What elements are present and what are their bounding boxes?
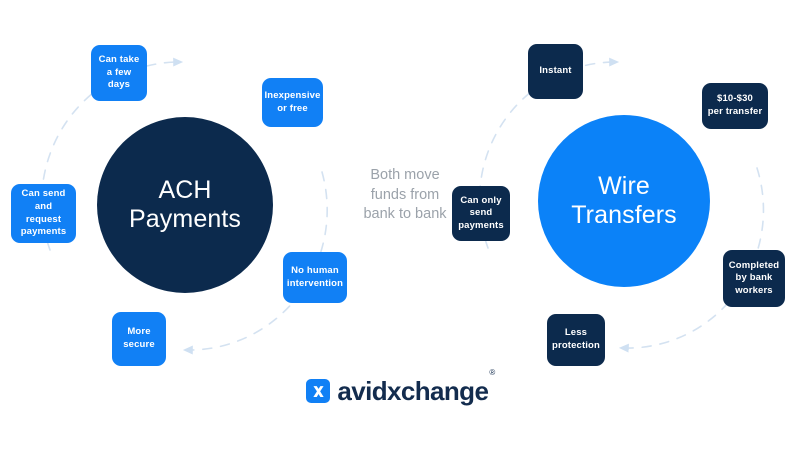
tag-ach-can-take-a-few-days[interactable]: Can take a few days <box>91 45 147 101</box>
tag-wire-less-protection[interactable]: Less protection <box>547 314 605 366</box>
tag-ach-inexpensive-or-free[interactable]: Inexpensive or free <box>262 78 323 127</box>
logo-wordmark: avidxchange® <box>337 378 493 404</box>
logo-wordmark-text: avidxchange <box>337 376 488 406</box>
hub-circle-ach[interactable]: ACH Payments <box>97 117 273 293</box>
tag-label: Can take a few days <box>99 54 140 92</box>
tag-wire-fee-per-transfer[interactable]: $10-$30 per transfer <box>702 83 768 129</box>
tag-label: No human intervention <box>287 265 343 290</box>
brand-logo[interactable]: avidxchange® <box>0 378 800 404</box>
tag-ach-can-send-and-request-payments[interactable]: Can send and request payments <box>11 184 76 243</box>
tag-label: Inexpensive or free <box>264 90 320 115</box>
tag-ach-no-human-intervention[interactable]: No human intervention <box>283 252 347 303</box>
registered-trademark-icon: ® <box>489 368 494 377</box>
tag-wire-can-only-send-payments[interactable]: Can only send payments <box>452 186 510 241</box>
hub-label-ach: ACH Payments <box>115 176 255 234</box>
tag-label: Can send and request payments <box>16 188 71 239</box>
tag-wire-instant[interactable]: Instant <box>528 44 583 99</box>
tag-label: Can only send payments <box>458 195 504 233</box>
center-caption: Both move funds from bank to bank <box>350 166 460 225</box>
tag-label: More secure <box>123 326 155 351</box>
tag-wire-completed-by-bank-workers[interactable]: Completed by bank workers <box>723 250 785 307</box>
tag-label: Instant <box>539 65 571 78</box>
x-mark-icon <box>306 379 330 403</box>
tag-label: Less protection <box>552 327 600 352</box>
tag-label: $10-$30 per transfer <box>708 93 763 118</box>
tag-ach-more-secure[interactable]: More secure <box>112 312 166 366</box>
infographic-canvas: ACH Payments Can take a few days Inexpen… <box>0 0 800 450</box>
hub-circle-wire[interactable]: Wire Transfers <box>538 115 710 287</box>
tag-label: Completed by bank workers <box>729 260 779 298</box>
hub-label-wire: Wire Transfers <box>557 172 691 230</box>
